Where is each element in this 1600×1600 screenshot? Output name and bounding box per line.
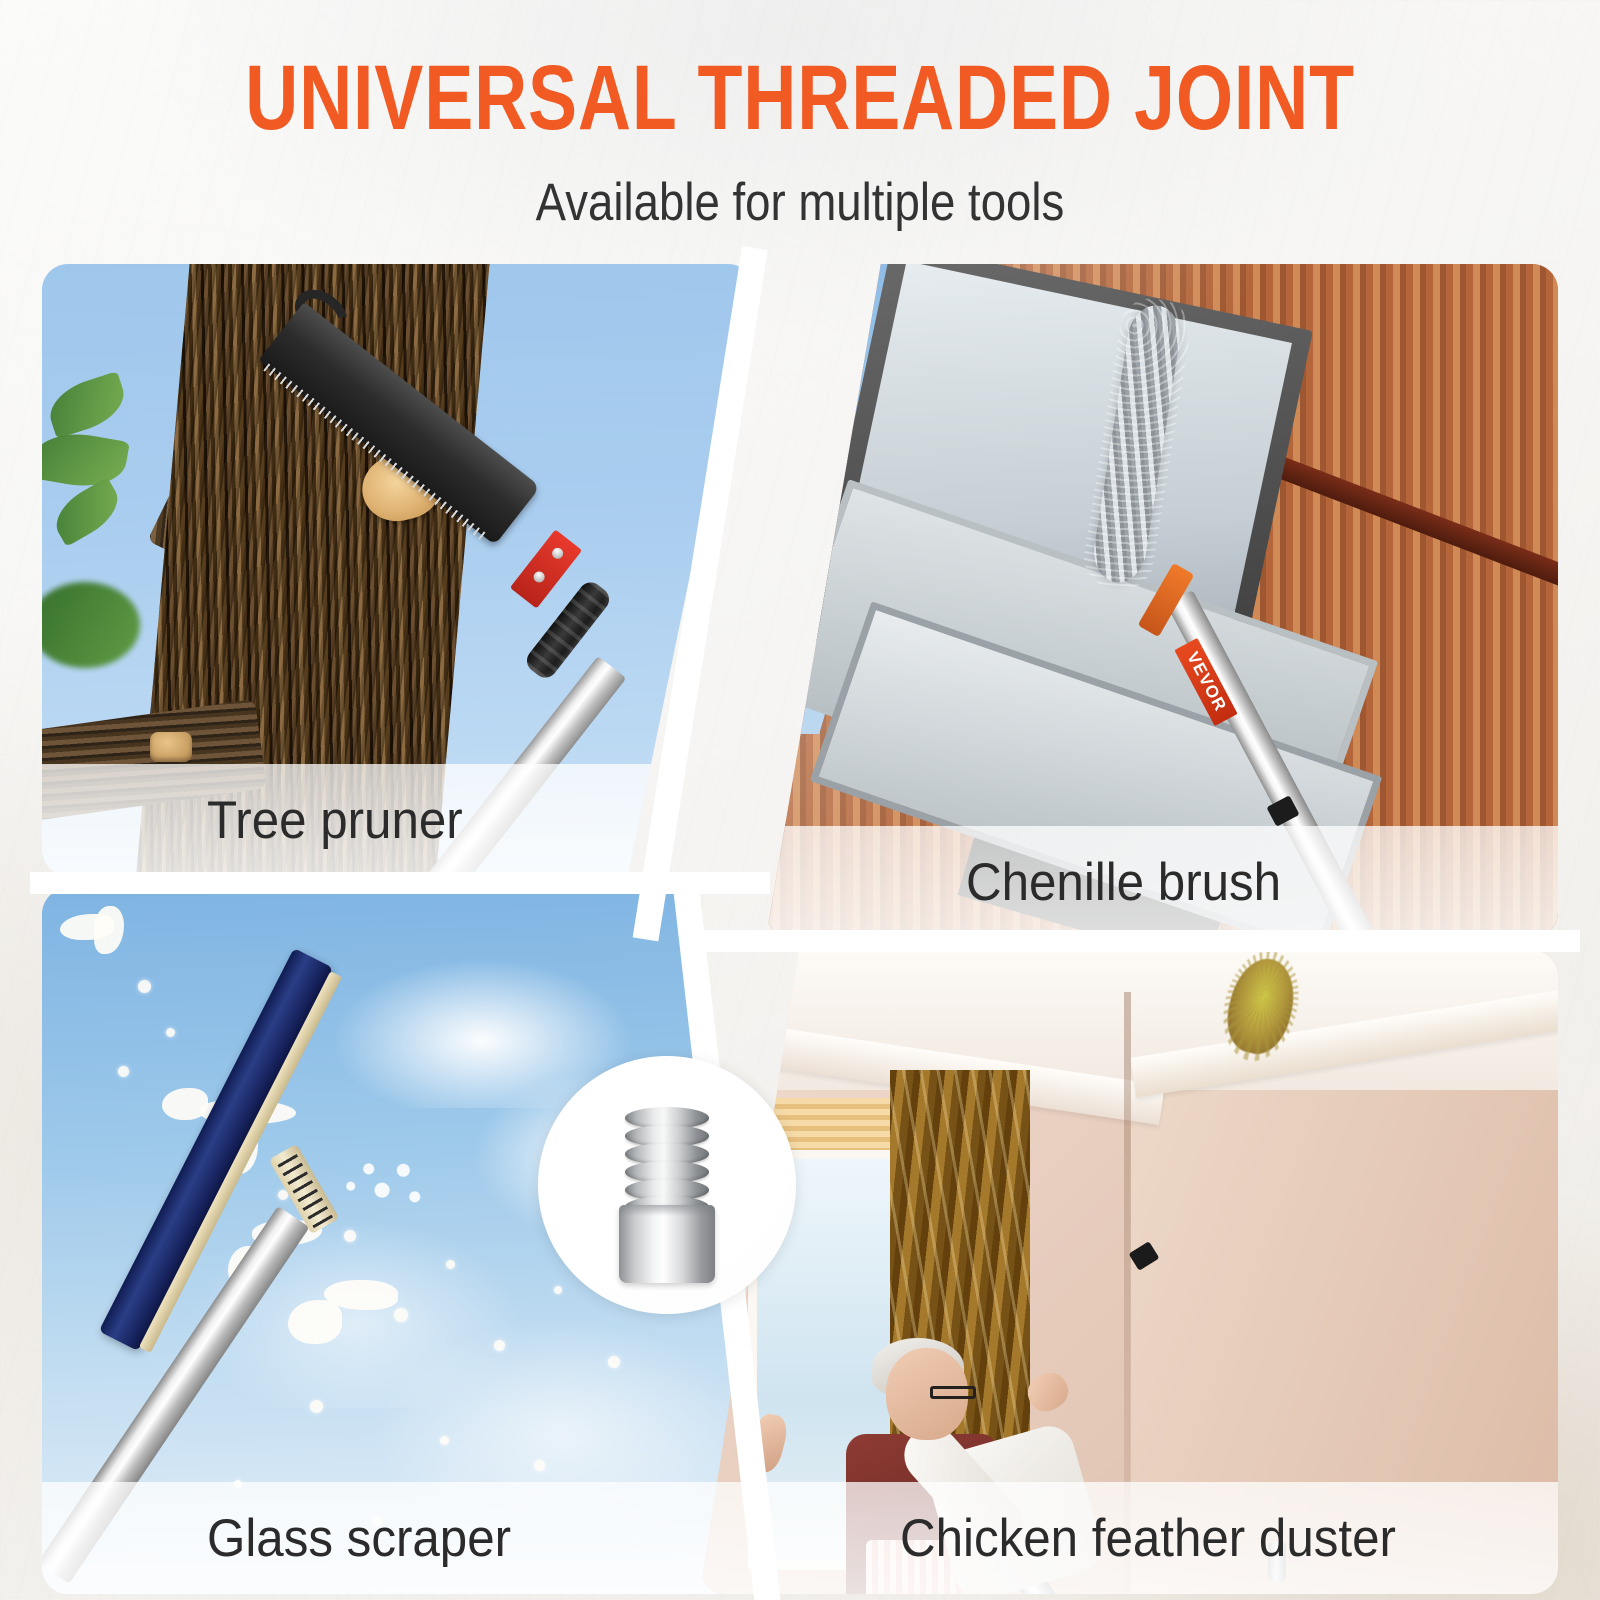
panel-chicken-feather-duster[interactable]: Chicken feather duster bbox=[700, 950, 1558, 1594]
label-chicken-feather-duster: Chicken feather duster bbox=[900, 1508, 1396, 1569]
page-title: UNIVERSAL THREADED JOINT bbox=[160, 52, 1440, 144]
label-glass-scraper: Glass scraper bbox=[207, 1508, 511, 1569]
panel-label-band: Chenille brush bbox=[766, 826, 1558, 938]
panel-chenille-brush[interactable]: VEVOR Chenille brush bbox=[766, 264, 1558, 938]
panel-label-band: Chicken feather duster bbox=[700, 1482, 1558, 1594]
tool-collage: Tree pruner VEVOR Chenille brush bbox=[0, 258, 1600, 1600]
page-subtitle: Available for multiple tools bbox=[112, 176, 1488, 229]
header: UNIVERSAL THREADED JOINT Available for m… bbox=[0, 0, 1600, 258]
threaded-screw-icon bbox=[607, 1101, 727, 1279]
panel-label-band: Glass scraper bbox=[42, 1482, 754, 1594]
label-tree-pruner: Tree pruner bbox=[207, 790, 463, 851]
label-chenille-brush: Chenille brush bbox=[966, 852, 1281, 913]
panel-divider-horizontal-left bbox=[30, 872, 770, 894]
threaded-joint-callout bbox=[538, 1056, 796, 1314]
panel-divider-horizontal-right bbox=[700, 930, 1580, 952]
panel-tree-pruner[interactable]: Tree pruner bbox=[42, 264, 754, 876]
